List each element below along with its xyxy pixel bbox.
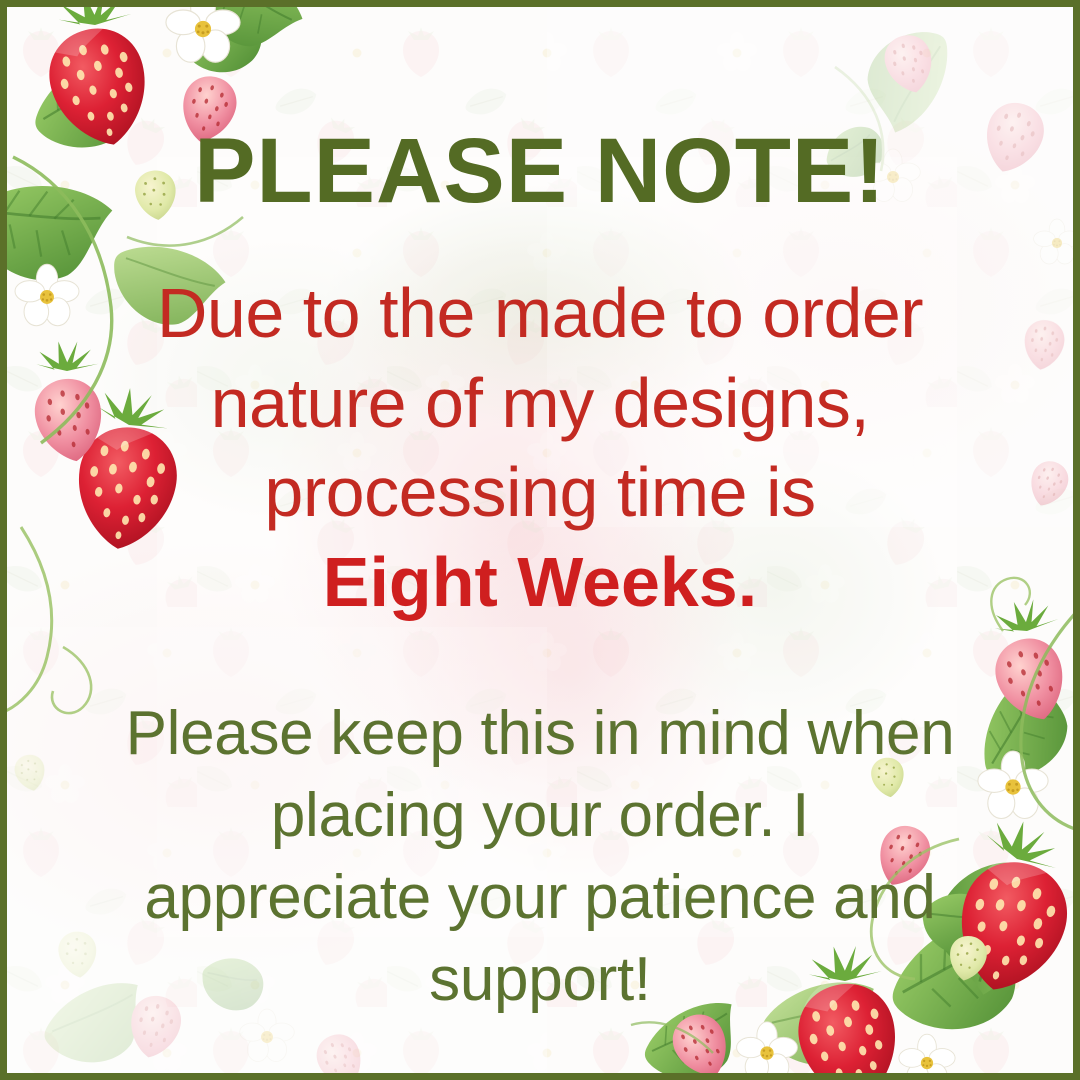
green-line-4: support!: [429, 945, 651, 1014]
green-line-1: Please keep this in mind when: [126, 699, 955, 768]
processing-time-period: .: [738, 543, 757, 621]
please-note-poster: PLEASE NOTE! Due to the made to order na…: [0, 0, 1080, 1080]
green-line-2: placing your order. I: [271, 781, 809, 850]
red-line-3: processing time is: [264, 453, 815, 531]
processing-time-message: Due to the made to order nature of my de…: [157, 269, 923, 627]
red-line-1: Due to the made to order: [157, 274, 923, 352]
green-line-3: appreciate your patience and: [144, 863, 935, 932]
processing-time-value: Eight Weeks: [323, 543, 738, 621]
patience-message: Please keep this in mind when placing yo…: [126, 693, 955, 1020]
red-line-2: nature of my designs,: [211, 364, 870, 442]
page-title: PLEASE NOTE!: [194, 125, 886, 217]
poster-text-block: PLEASE NOTE! Due to the made to order na…: [7, 7, 1073, 1073]
